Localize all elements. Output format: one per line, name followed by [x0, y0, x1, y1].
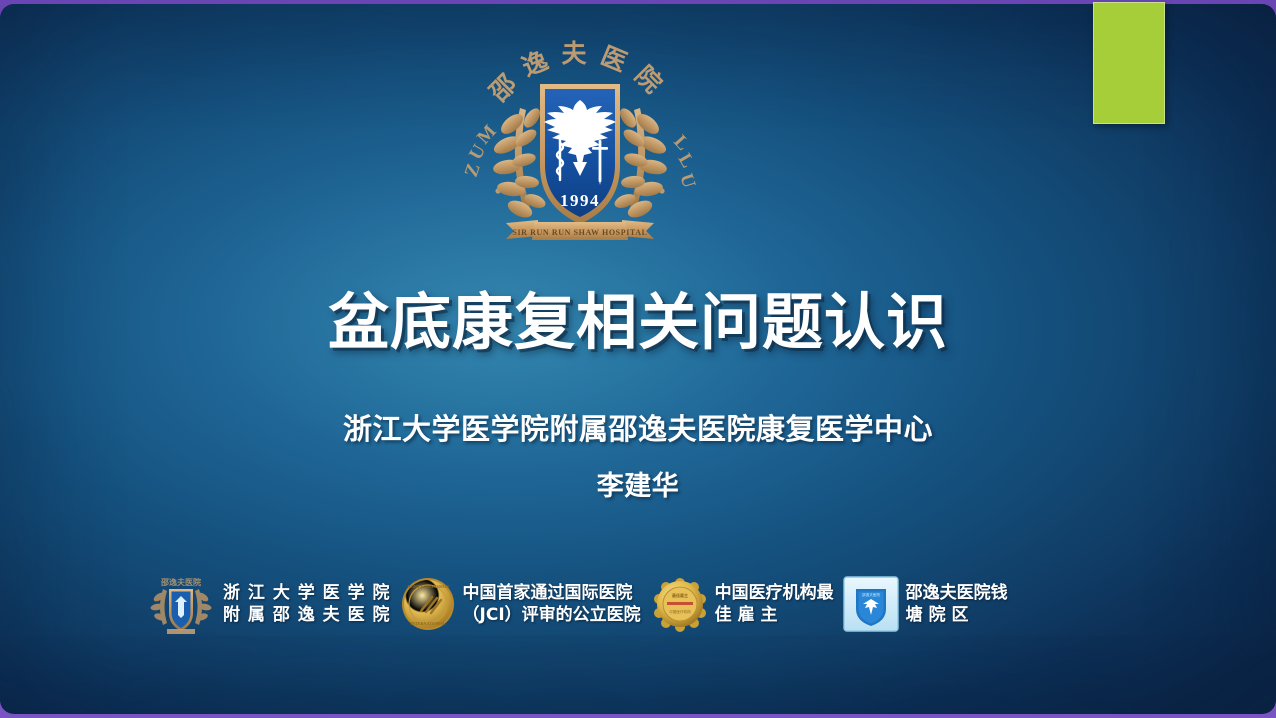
badge-4-line2: 塘 院 区 [906, 604, 1008, 626]
badge-best-employer: 最佳雇主 中国医疗机构 中国医疗机构最 佳 雇 主 [651, 568, 834, 640]
badge-4-text: 邵逸夫医院钱 塘 院 区 [906, 582, 1008, 627]
badge-2-text: 中国首家通过国际医院 （JCI）评审的公立医院 [463, 582, 641, 627]
badge-qiantang-campus: 邵逸夫医院 邵逸夫医院钱 塘 院 区 [842, 568, 1008, 640]
badge-zhejiang-university: 邵逸夫医院 浙 江 大 学 医 学 院 附 属 邵 逸 夫 医 院 [145, 568, 391, 640]
hospital-emblem-icon: 邵逸夫医院 Z U M U L L [452, 28, 708, 258]
badge-3-text: 中国医疗机构最 佳 雇 主 [715, 582, 834, 627]
svg-text:邵逸夫医院: 邵逸夫医院 [160, 577, 201, 587]
hospital-crest-icon: 邵逸夫医院 [145, 571, 217, 637]
slide-root: 邵逸夫医院 Z U M U L L [0, 0, 1276, 718]
badge-1-line2: 附 属 邵 逸 夫 医 院 [223, 604, 391, 626]
slide-subtitle-block: 浙江大学医学院附属邵逸夫医院康复医学中心 李建华 [0, 406, 1276, 503]
svg-text:INTERNATIONAL: INTERNATIONAL [410, 621, 446, 626]
qiantang-campus-shield-icon: 邵逸夫医院 [842, 575, 900, 633]
green-rectangle-shape[interactable] [1093, 2, 1165, 124]
badge-3-line1: 中国医疗机构最 [715, 582, 834, 604]
badge-2-line2: （JCI）评审的公立医院 [463, 604, 641, 626]
badge-1-text: 浙 江 大 学 医 学 院 附 属 邵 逸 夫 医 院 [223, 582, 391, 627]
svg-text:中国医疗机构: 中国医疗机构 [669, 609, 691, 614]
accreditation-badge-row: 邵逸夫医院 浙 江 大 学 医 学 院 附 属 邵 逸 夫 医 院 [145, 568, 1075, 640]
svg-text:1994: 1994 [560, 191, 600, 210]
badge-1-line1: 浙 江 大 学 医 学 院 [223, 582, 391, 604]
badge-jci-accreditation: JOINT COMMISSION INTERNATIONAL 中国首家通过国际医… [399, 568, 641, 640]
svg-text:SIR RUN RUN SHAW HOSPITAL: SIR RUN RUN SHAW HOSPITAL [512, 228, 647, 237]
slide-presenter-name: 李建华 [0, 464, 1276, 503]
badge-4-line1: 邵逸夫医院钱 [906, 582, 1008, 604]
gold-award-seal-icon: 最佳雇主 中国医疗机构 [651, 575, 709, 633]
slide-title: 盆底康复相关问题认识 [0, 272, 1276, 361]
badge-2-line1: 中国首家通过国际医院 [463, 582, 641, 604]
svg-text:JOINT COMMISSION: JOINT COMMISSION [406, 584, 448, 589]
jci-gold-medal-icon: JOINT COMMISSION INTERNATIONAL [399, 575, 457, 633]
svg-text:Z: Z [461, 161, 485, 180]
svg-text:U: U [675, 171, 699, 191]
slide-affiliation: 浙江大学医学院附属邵逸夫医院康复医学中心 [0, 406, 1276, 448]
svg-text:邵逸夫医院: 邵逸夫医院 [862, 592, 880, 597]
badge-3-line2: 佳 雇 主 [715, 604, 834, 626]
svg-text:最佳雇主: 最佳雇主 [672, 592, 688, 598]
